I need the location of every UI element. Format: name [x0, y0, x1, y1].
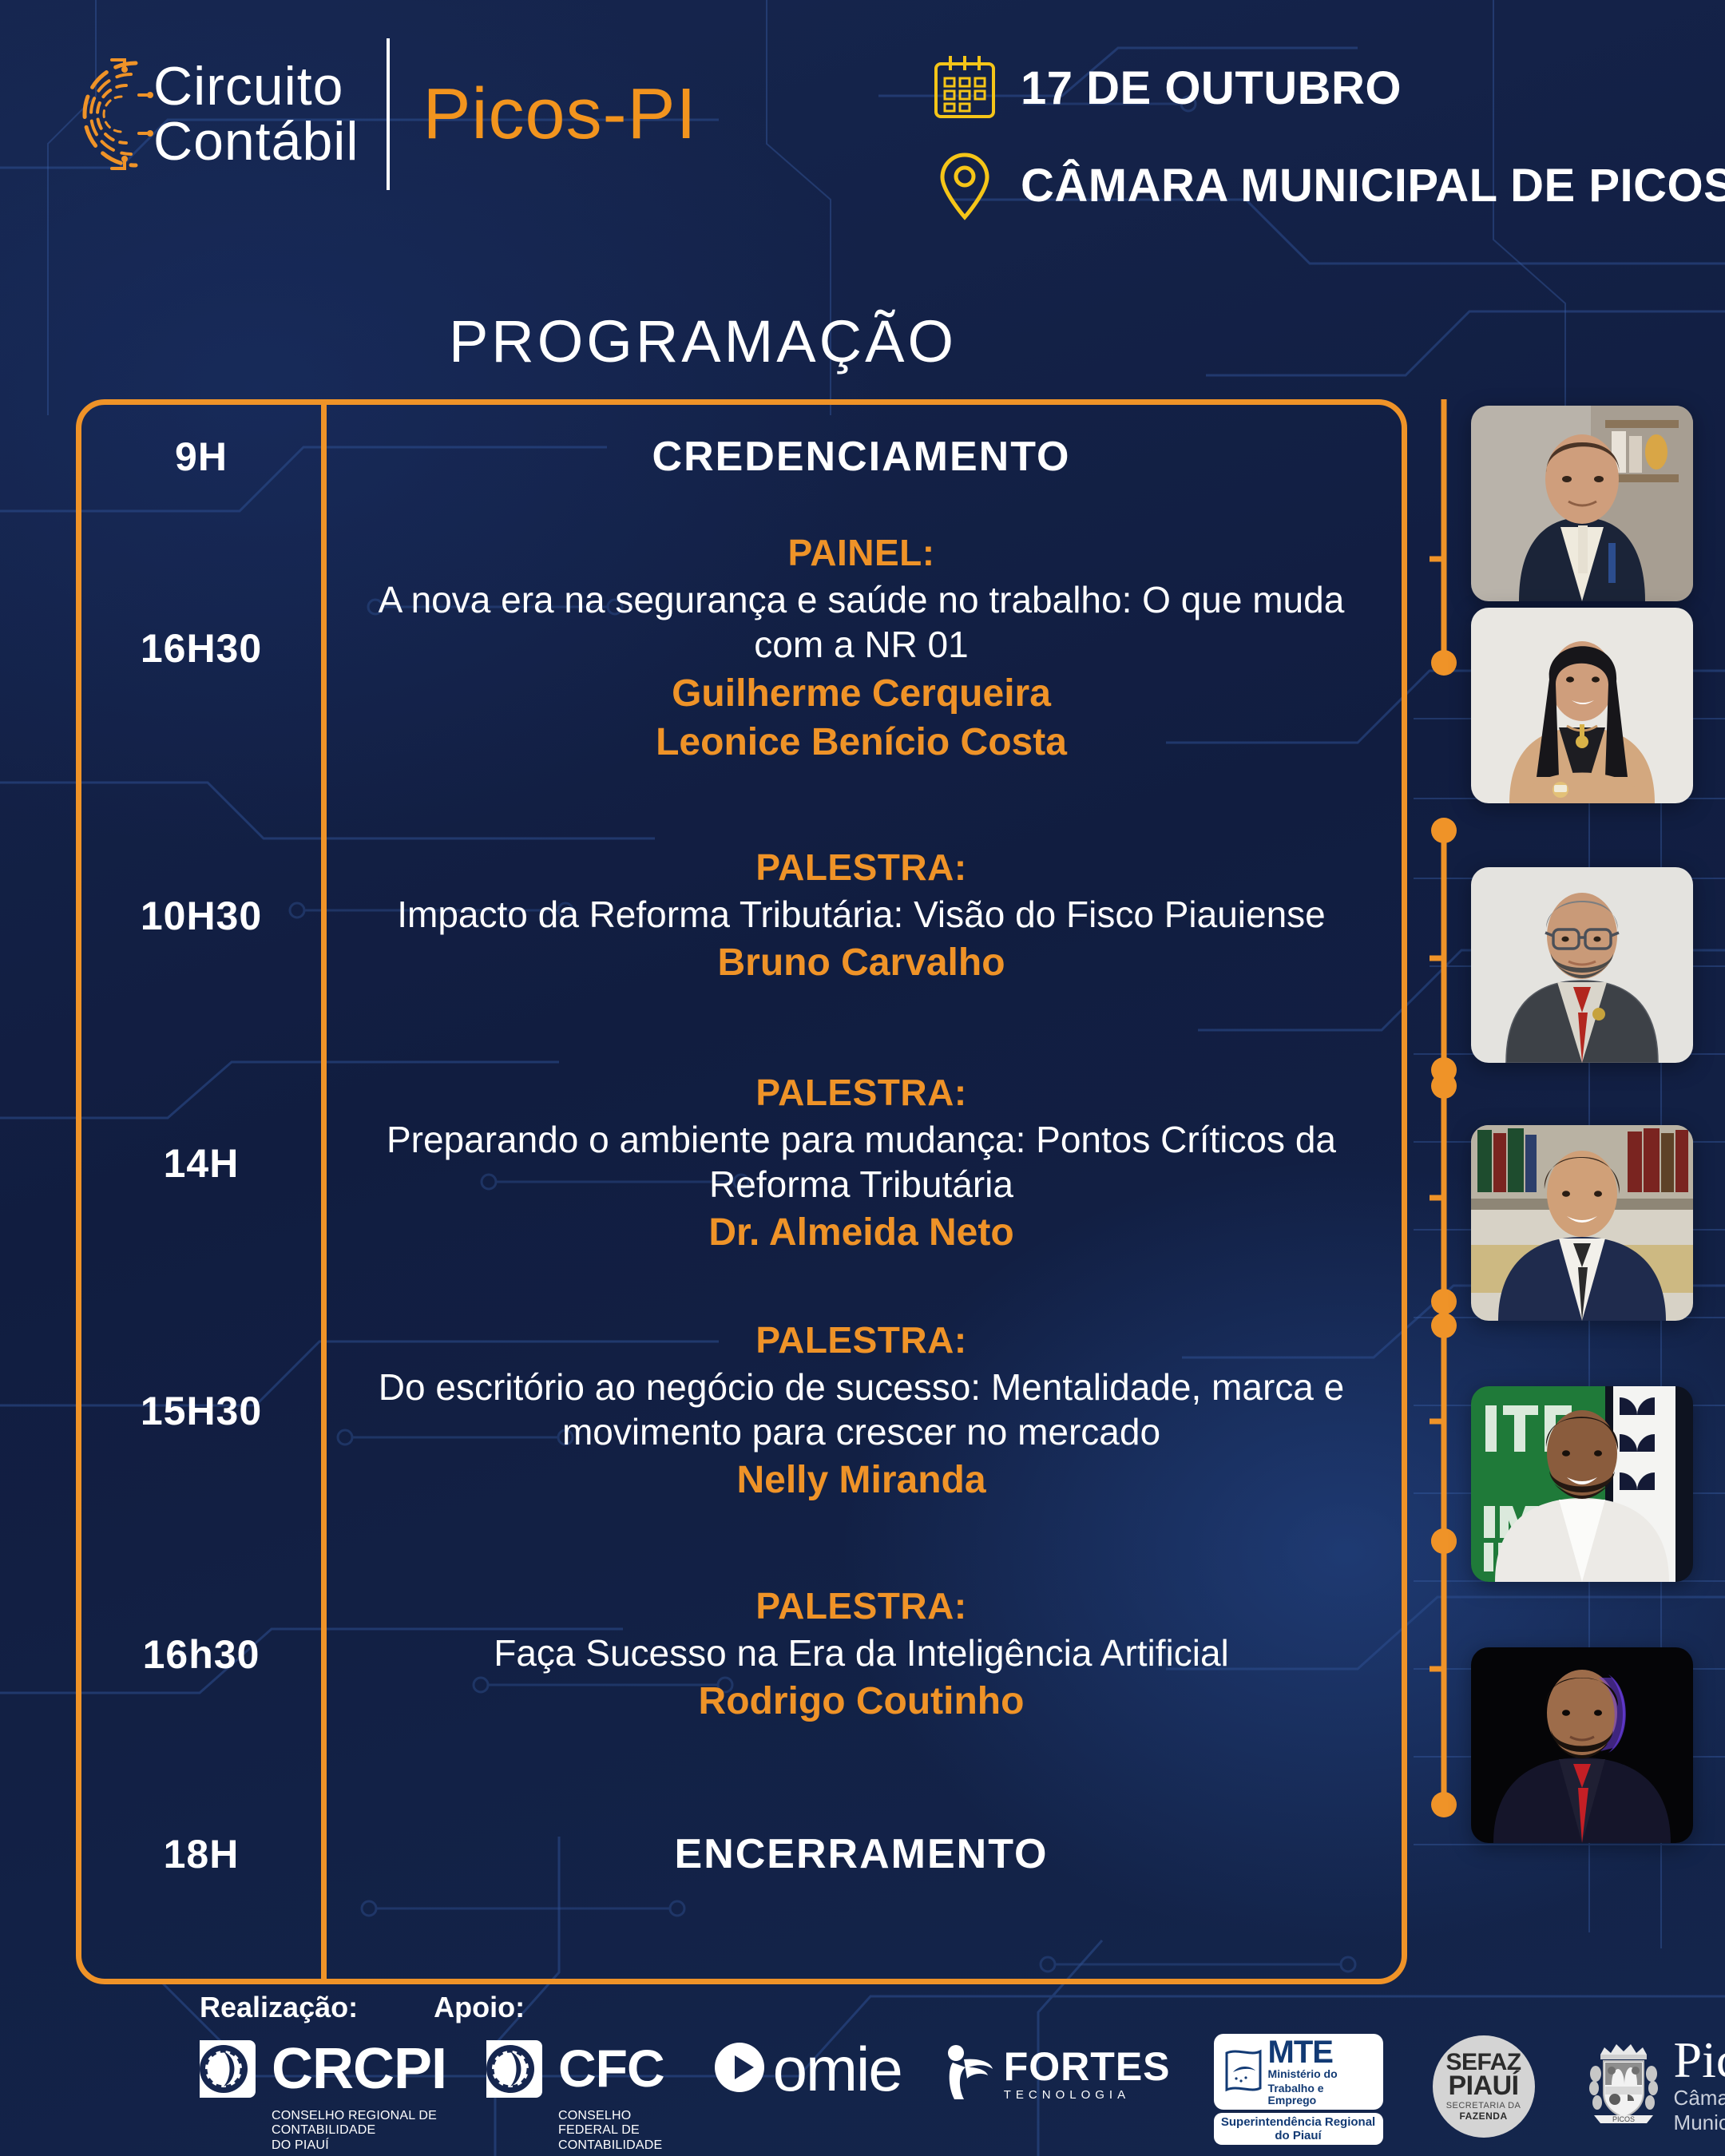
schedule-time: 15H30 — [81, 1388, 321, 1434]
schedule-description: CREDENCIAMENTO — [321, 433, 1402, 481]
crcpi-sub-line2: DO PIAUÍ — [272, 2138, 446, 2153]
schedule-title: Faça Sucesso na Era da Inteligência Arti… — [359, 1631, 1363, 1675]
logo-line-2: Contábil — [153, 116, 359, 168]
crcpi-subtitle: CONSELHO REGIONAL DE CONTABILIDADE DO PI… — [272, 2109, 446, 2153]
cfc-gear-icon — [478, 2034, 549, 2104]
table-row: 9H CREDENCIAMENTO — [81, 405, 1402, 509]
schedule-kind: PALESTRA: — [359, 846, 1363, 889]
sefaz-sub-line2: FAZENDA — [1459, 2110, 1507, 2122]
schedule-kind: PAINEL: — [359, 531, 1363, 574]
circuit-c-logo-icon — [62, 42, 158, 186]
table-row: 16H30 PAINEL: A nova era na segurança e … — [81, 509, 1402, 788]
schedule-time: 9H — [81, 434, 321, 480]
mte-band: Superintendência Regional do Piauí — [1214, 2113, 1383, 2145]
logo-city-label: Picos-PI — [423, 73, 697, 156]
schedule-time: 10H30 — [81, 893, 321, 939]
fortes-subtitle: TECNOLOGIA — [1004, 2088, 1171, 2102]
poster-header: Circuito Contábil Picos-PI — [0, 0, 1725, 279]
schedule-title: Do escritório ao negócio de sucesso: Men… — [359, 1365, 1363, 1454]
schedule-plain-title: CREDENCIAMENTO — [359, 433, 1363, 481]
schedule-title: A nova era na segurança e saúde no traba… — [359, 577, 1363, 667]
schedule-description: PAINEL: A nova era na segurança e saúde … — [321, 531, 1402, 765]
mte-name: MTE — [1268, 2039, 1375, 2066]
schedule-time: 18H — [81, 1831, 321, 1877]
picos-coat-of-arms-icon: PICOS — [1584, 2039, 1663, 2133]
cfc-name: CFC — [558, 2045, 664, 2092]
logo-sefaz-piaui: SEFAZ PIAUÍ SECRETARIA DA FAZENDA — [1433, 2034, 1535, 2138]
table-row: 15H30 PALESTRA: Do escritório ao negócio… — [81, 1283, 1402, 1539]
table-row: 16h30 PALESTRA: Faça Sucesso na Era da I… — [81, 1539, 1402, 1770]
poster-footer: Realização: Apoio: — [0, 1984, 1725, 2156]
omie-name: omie — [773, 2044, 902, 2094]
picos-name: Picos — [1674, 2037, 1725, 2084]
picos-subtitle: Câmara Municipal — [1674, 2086, 1725, 2135]
speaker-photo-leonice-benicio-costa — [1471, 608, 1693, 803]
omie-play-icon — [711, 2039, 768, 2100]
crcpi-sub-line1: CONSELHO REGIONAL DE CONTABILIDADE — [272, 2109, 446, 2138]
event-logo: Circuito Contábil Picos-PI — [62, 38, 697, 190]
mte-flag-icon — [1222, 2048, 1263, 2098]
speaker-photo-guilherme-cerqueira — [1471, 406, 1693, 601]
speaker-photo-rail — [1430, 399, 1693, 1843]
schedule-title: Impacto da Reforma Tributária: Visão do … — [359, 892, 1363, 937]
logo-omie: omie — [711, 2034, 902, 2100]
section-title: PROGRAMAÇÃO — [0, 307, 1406, 375]
location-pin-icon — [926, 147, 1003, 224]
schedule-column-divider — [321, 402, 327, 1982]
schedule-speaker: Guilherme Cerqueira — [359, 671, 1363, 717]
event-venue: CÂMARA MUNICIPAL DE PICOS — [1021, 159, 1725, 212]
schedule-title: Preparando o ambiente para mudança: Pont… — [359, 1117, 1363, 1207]
schedule-time: 16h30 — [81, 1631, 321, 1678]
mte-sub-line1: Ministério do — [1268, 2068, 1375, 2080]
event-info: 17 DE OUTUBRO CÂMARA MUNICIPAL DE PICOS — [926, 50, 1725, 244]
event-date-row: 17 DE OUTUBRO — [926, 50, 1725, 126]
schedule-table: 9H CREDENCIAMENTO 16H30 PAINEL: A nova e… — [76, 399, 1407, 1984]
sefaz-name-line2: PIAUÍ — [1448, 2074, 1518, 2099]
fortes-name: FORTES — [1004, 2048, 1171, 2087]
schedule-description: PALESTRA: Impacto da Reforma Tributária:… — [321, 846, 1402, 986]
speaker-photo-almeida-neto — [1471, 1125, 1693, 1321]
logo-cfc: CFC CONSELHO FEDERAL DE CONTABILIDADE — [478, 2034, 679, 2153]
table-row: 14H PALESTRA: Preparando o ambiente para… — [81, 1044, 1402, 1283]
speaker-photo-bruno-carvalho — [1471, 867, 1693, 1063]
logo-divider — [387, 38, 390, 190]
logo-picos-camara: PICOS Picos Câmara Municipal — [1584, 2034, 1725, 2135]
schedule-time: 14H — [81, 1140, 321, 1187]
logo-mte: MTE Ministério do Trabalho e Emprego Sup… — [1214, 2034, 1383, 2145]
speaker-photo-nelly-miranda — [1471, 1386, 1693, 1582]
schedule-kind: PALESTRA: — [359, 1318, 1363, 1361]
logo-fortes: FORTES TECNOLOGIA — [942, 2034, 1171, 2108]
schedule-time: 16H30 — [81, 625, 321, 672]
schedule-kind: PALESTRA: — [359, 1071, 1363, 1114]
footer-labels: Realização: Apoio: — [200, 1991, 525, 2024]
mte-sub-line2: Trabalho e Emprego — [1268, 2083, 1375, 2106]
schedule-speaker: Nelly Miranda — [359, 1457, 1363, 1504]
picos-crest-text: PICOS — [1612, 2115, 1635, 2123]
schedule-speaker: Bruno Carvalho — [359, 940, 1363, 986]
apoio-label: Apoio: — [434, 1991, 525, 2024]
schedule-description: ENCERRAMENTO — [321, 1830, 1402, 1878]
speaker-photo-rodrigo-coutinho — [1471, 1647, 1693, 1843]
table-row: 18H ENCERRAMENTO — [81, 1770, 1402, 1938]
schedule-description: PALESTRA: Faça Sucesso na Era da Intelig… — [321, 1584, 1402, 1725]
logo-line-1: Circuito — [153, 61, 359, 113]
schedule-speaker: Leonice Benício Costa — [359, 719, 1363, 766]
table-row: 10H30 PALESTRA: Impacto da Reforma Tribu… — [81, 788, 1402, 1044]
realizacao-label: Realização: — [200, 1991, 358, 2024]
crcpi-name: CRCPI — [272, 2043, 446, 2095]
schedule-description: PALESTRA: Preparando o ambiente para mud… — [321, 1071, 1402, 1256]
schedule-description: PALESTRA: Do escritório ao negócio de su… — [321, 1318, 1402, 1504]
schedule-speaker: Dr. Almeida Neto — [359, 1210, 1363, 1256]
schedule-kind: PALESTRA: — [359, 1584, 1363, 1627]
cfc-sub-line1: CONSELHO FEDERAL DE CONTABILIDADE — [558, 2109, 679, 2153]
cfc-subtitle: CONSELHO FEDERAL DE CONTABILIDADE — [558, 2109, 679, 2153]
event-date: 17 DE OUTUBRO — [1021, 61, 1402, 115]
logo-crcpi: CRCPI CONSELHO REGIONAL DE CONTABILIDADE… — [192, 2034, 446, 2153]
calendar-icon — [926, 50, 1003, 126]
event-venue-row: CÂMARA MUNICIPAL DE PICOS — [926, 147, 1725, 224]
crc-gear-icon — [192, 2034, 262, 2104]
fortes-figure-icon — [942, 2042, 996, 2108]
schedule-speaker: Rodrigo Coutinho — [359, 1678, 1363, 1725]
schedule-plain-title: ENCERRAMENTO — [359, 1830, 1363, 1878]
logo-wordmark: Circuito Contábil — [153, 61, 359, 167]
footer-logos: CRCPI CONSELHO REGIONAL DE CONTABILIDADE… — [192, 2034, 1725, 2153]
sefaz-sub-line1: SECRETARIA DA — [1446, 2101, 1521, 2110]
